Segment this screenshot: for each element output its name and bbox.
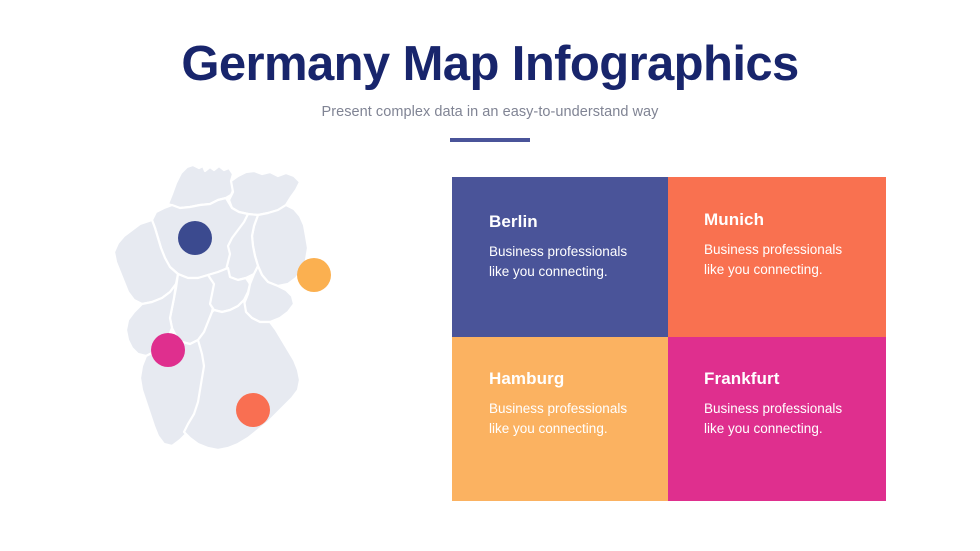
title-underline-rule	[450, 138, 530, 142]
munich-marker[interactable]	[236, 393, 270, 427]
page-subtitle: Present complex data in an easy-to-under…	[0, 91, 980, 120]
slide-canvas: Germany Map Infographics Present complex…	[0, 0, 980, 551]
card-title-munich: Munich	[704, 211, 886, 228]
card-title-berlin: Berlin	[489, 213, 668, 230]
berlin-marker[interactable]	[297, 258, 331, 292]
germany-map-svg	[78, 160, 408, 515]
card-hamburg[interactable]: Hamburg Business professionals like you …	[452, 337, 668, 501]
card-body-munich: Business professionals like you connecti…	[704, 228, 856, 279]
card-title-hamburg: Hamburg	[489, 370, 668, 387]
card-frankfurt[interactable]: Frankfurt Business professionals like yo…	[668, 337, 886, 501]
page-title: Germany Map Infographics	[0, 0, 980, 91]
germany-map-panel	[78, 160, 408, 515]
card-title-frankfurt: Frankfurt	[704, 370, 886, 387]
header: Germany Map Infographics Present complex…	[0, 0, 980, 142]
frankfurt-marker[interactable]	[151, 333, 185, 367]
map-regions	[114, 165, 308, 450]
card-berlin[interactable]: Berlin Business professionals like you c…	[452, 177, 668, 337]
card-munich[interactable]: Munich Business professionals like you c…	[668, 177, 886, 337]
card-body-berlin: Business professionals like you connecti…	[489, 230, 641, 281]
city-card-grid: Berlin Business professionals like you c…	[452, 177, 886, 501]
card-body-hamburg: Business professionals like you connecti…	[489, 387, 641, 438]
hamburg-marker[interactable]	[178, 221, 212, 255]
card-body-frankfurt: Business professionals like you connecti…	[704, 387, 856, 438]
